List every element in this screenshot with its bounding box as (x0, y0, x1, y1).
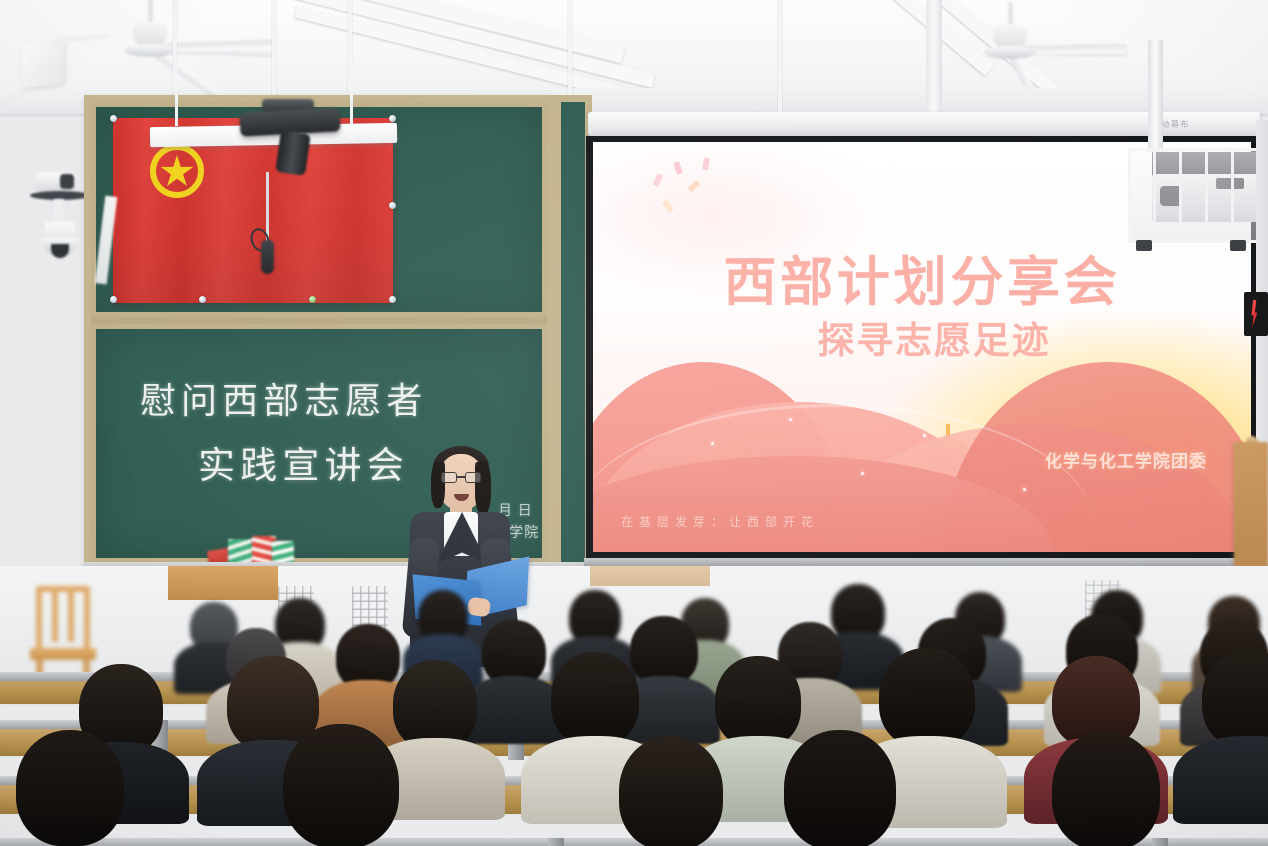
speaker-icon (22, 40, 64, 88)
slide-subtitle: 探寻志愿足迹 (593, 310, 1251, 364)
light-hanger (350, 62, 353, 126)
slide-organizer: 化学与化工学院团委 (1045, 447, 1207, 472)
blackboard-headline-line1: 慰问西部志愿者 (140, 372, 427, 424)
audience (0, 560, 1268, 846)
ceiling-camera-lens (275, 130, 311, 176)
projector-security-cage (1128, 148, 1268, 243)
audience-member (596, 736, 746, 846)
hanger-rod (778, 0, 782, 118)
blackboard-headline-line2: 实践宣讲会 (198, 435, 409, 489)
microphone-cable (266, 172, 269, 242)
slide-tagline: 在基层发芽：让西部开花 (621, 513, 819, 530)
led-display-sign (1244, 292, 1268, 336)
audience-member (760, 730, 920, 846)
audience-member (1028, 732, 1184, 846)
audience-member (0, 730, 150, 846)
led-glyph-icon (1250, 300, 1259, 328)
dome-camera-eye (51, 244, 69, 258)
glasses-icon (441, 472, 481, 483)
classroom-scene: 慰问西部志愿者 实践宣讲会 月 日 工学院 电动幕布 (0, 0, 1268, 846)
presenter-hair-side (431, 462, 445, 508)
audience-member (1176, 650, 1268, 818)
bench-post (548, 838, 564, 846)
audience-member (256, 724, 426, 846)
cage-foot (1230, 240, 1246, 251)
light-hanger (175, 60, 178, 126)
cage-foot (1136, 240, 1152, 251)
slide-title: 西部计划分享会 (593, 240, 1251, 316)
projector-mount-pole (1148, 40, 1163, 152)
presenter-hair-side (475, 462, 491, 514)
cctv-stem (54, 199, 64, 223)
hanging-microphone-icon (261, 240, 274, 274)
cctv-lens (60, 174, 74, 189)
support-pole (926, 0, 942, 120)
